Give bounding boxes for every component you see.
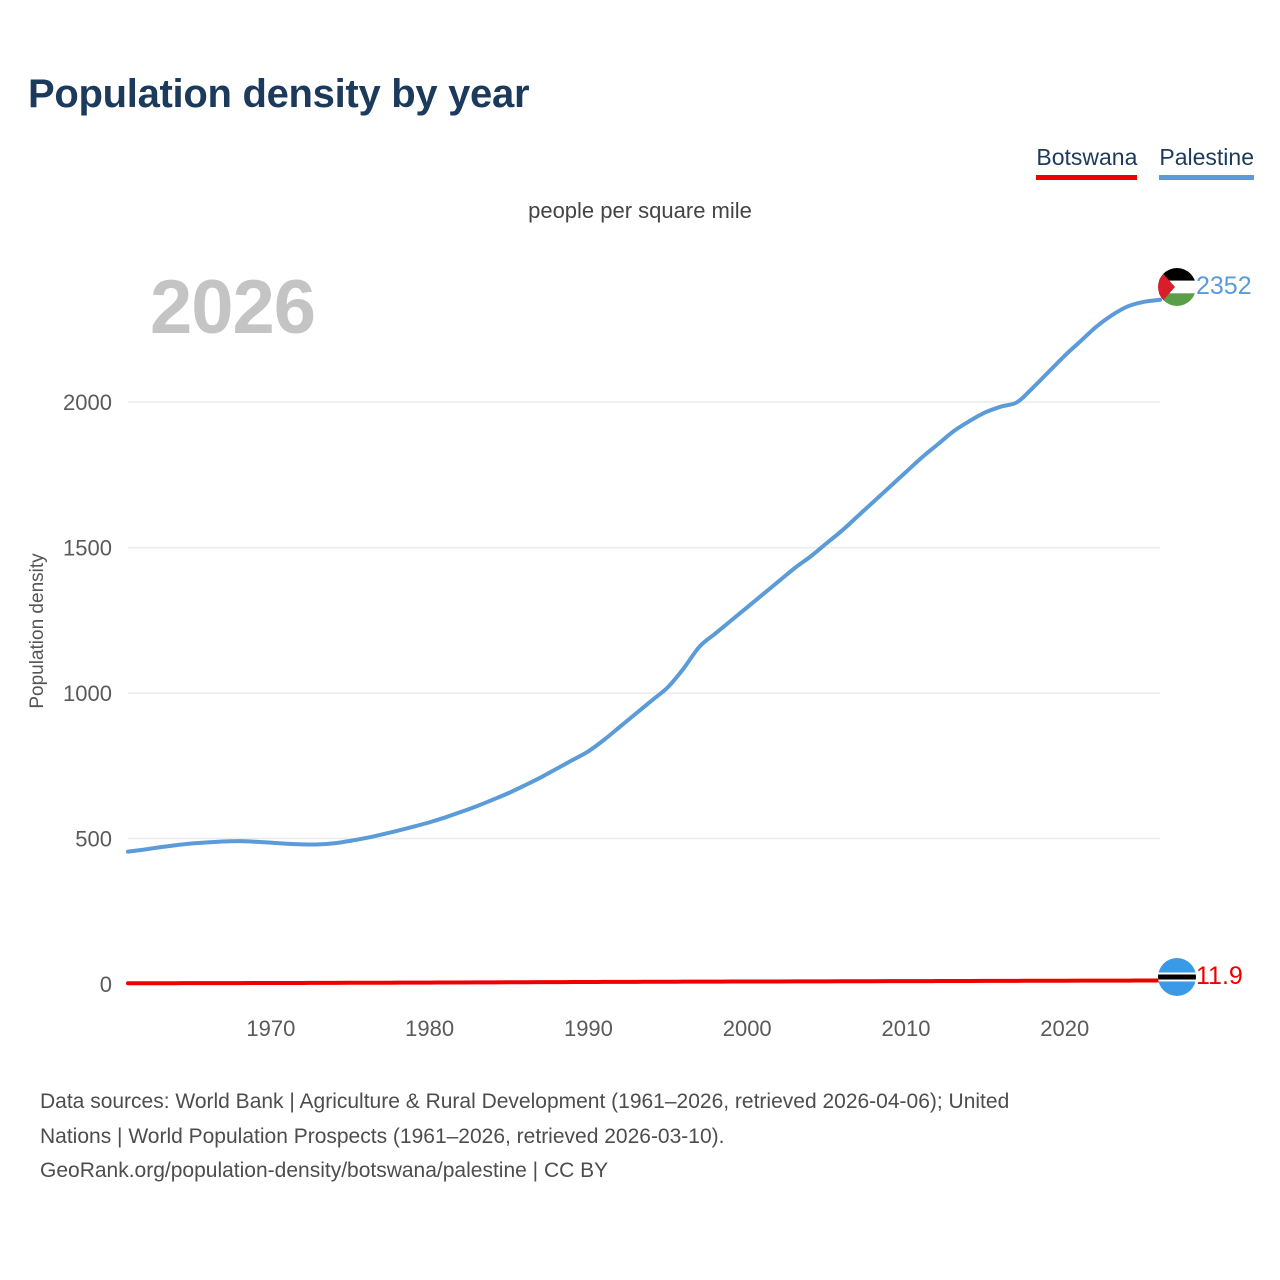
y-tick-label: 2000 — [63, 390, 112, 415]
x-tick-label: 1990 — [564, 1016, 613, 1041]
x-tick-label: 1980 — [405, 1016, 454, 1041]
chart-container: Population density by year Botswana Pale… — [0, 0, 1280, 1280]
botswana-flag-icon — [1158, 958, 1196, 996]
series-line-botswana — [128, 981, 1160, 984]
footer-line-2: Nations | World Population Prospects (19… — [40, 1120, 1260, 1155]
palestine-flag-icon — [1158, 268, 1196, 306]
footer-line-1: Data sources: World Bank | Agriculture &… — [40, 1085, 1260, 1120]
x-tick-label: 2020 — [1040, 1016, 1089, 1041]
y-tick-label: 500 — [75, 827, 112, 852]
x-tick-label: 2000 — [723, 1016, 772, 1041]
footer-sources: Data sources: World Bank | Agriculture &… — [40, 1085, 1260, 1189]
y-axis-ticks: 0500100015002000 — [63, 390, 112, 997]
series-line-palestine — [128, 300, 1160, 852]
x-tick-label: 1970 — [246, 1016, 295, 1041]
plot-area: 0500100015002000 19701980199020002010202… — [0, 0, 1280, 1060]
botswana-endpoint-value: 11.9 — [1196, 962, 1243, 991]
y-tick-label: 1000 — [63, 681, 112, 706]
footer-line-3: GeoRank.org/population-density/botswana/… — [40, 1154, 1260, 1189]
x-tick-label: 2010 — [881, 1016, 930, 1041]
gridlines — [128, 402, 1160, 838]
palestine-endpoint-value: 2352 — [1196, 272, 1252, 301]
y-tick-label: 1500 — [63, 536, 112, 561]
y-tick-label: 0 — [100, 972, 112, 997]
x-axis-ticks: 197019801990200020102020 — [246, 1016, 1089, 1041]
